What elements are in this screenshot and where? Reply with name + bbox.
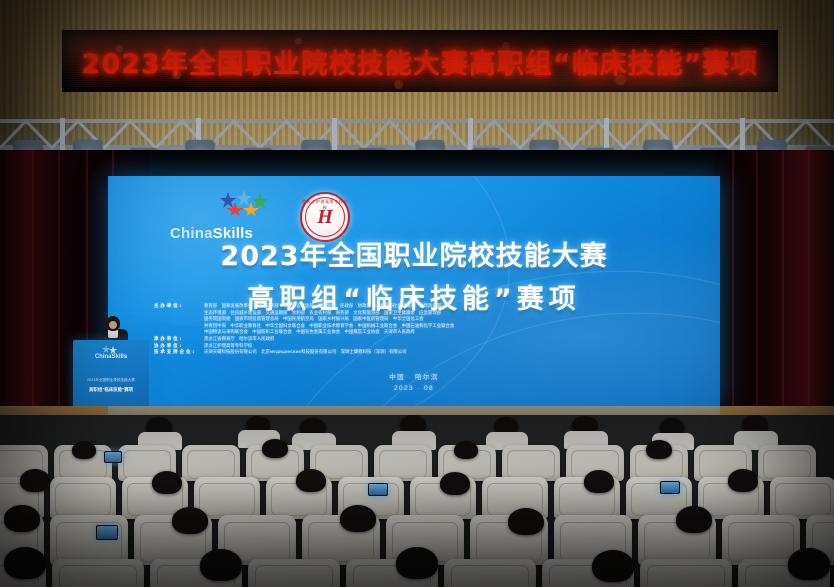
podium-line1: 2023年全国职业院校技能大赛: [73, 377, 149, 382]
conference-hall-photo: 2023年全国职业院校技能大赛高职组“临床技能”赛项: [0, 0, 834, 587]
screen-title-line1: 2023年全国职业院校技能大赛: [108, 234, 720, 273]
credit-body: 教育部 国家发展改革委 科学技术部 工业和信息化部 国家民委 民政部 财政部 人…: [204, 304, 674, 311]
credit-row: 技术支持企业: 天津天堰科技股份有限公司 北京медицинские科技股份有限…: [154, 350, 674, 357]
credit-label: 技术支持企业:: [154, 350, 204, 357]
stage-curtain-right: [714, 150, 834, 440]
credit-continuation: 中国物流与采购联合会 中国纺织工业联合会 中国有色金属工业协会 中国煤炭工业协会…: [154, 330, 674, 337]
screen-footer: 中国 · 哈尔滨 2023 · 08: [108, 372, 720, 394]
main-led-screen: ChinaSkills 黑龙江护理高等专科学校 H 2023年全国职业院校技能大…: [108, 176, 720, 406]
credit-body: 天津天堰科技股份有限公司 北京медицинские科技股份有限公司 深圳士康教…: [204, 350, 674, 357]
podium-star-icon: [102, 345, 120, 354]
credit-body: 黑龙江省教育厅 哈尔滨市人民政府: [204, 337, 674, 344]
podium-logo-text: ChinaSkills: [73, 354, 149, 360]
chinaskills-star-icon: [218, 190, 274, 216]
screen-credits-block: 主办单位: 教育部 国家发展改革委 科学技术部 工业和信息化部 国家民委 民政部…: [154, 304, 674, 357]
audience-area: [0, 415, 834, 587]
credit-label: 承办单位:: [154, 337, 204, 344]
credit-label: 主办单位:: [154, 304, 204, 311]
credit-row: 承办单位: 黑龙江省教育厅 哈尔滨市人民政府: [154, 337, 674, 344]
credit-row: 主办单位: 教育部 国家发展改革委 科学技术部 工业和信息化部 国家民委 民政部…: [154, 304, 674, 311]
podium-line2: 高职组“临床技能”赛项: [73, 387, 149, 393]
led-banner-text: 2023年全国职业院校技能大赛高职组“临床技能”赛项: [62, 30, 778, 92]
led-banner: 2023年全国职业院校技能大赛高职组“临床技能”赛项: [62, 30, 778, 92]
screen-footer-location: 中国 · 哈尔滨: [108, 372, 720, 383]
credit-continuation: 国务院国资委 国家市场监督管理总局 中国民用航空局 国家乡村振兴局 国家中医药管…: [154, 317, 674, 324]
screen-footer-date: 2023 · 08: [108, 383, 720, 394]
